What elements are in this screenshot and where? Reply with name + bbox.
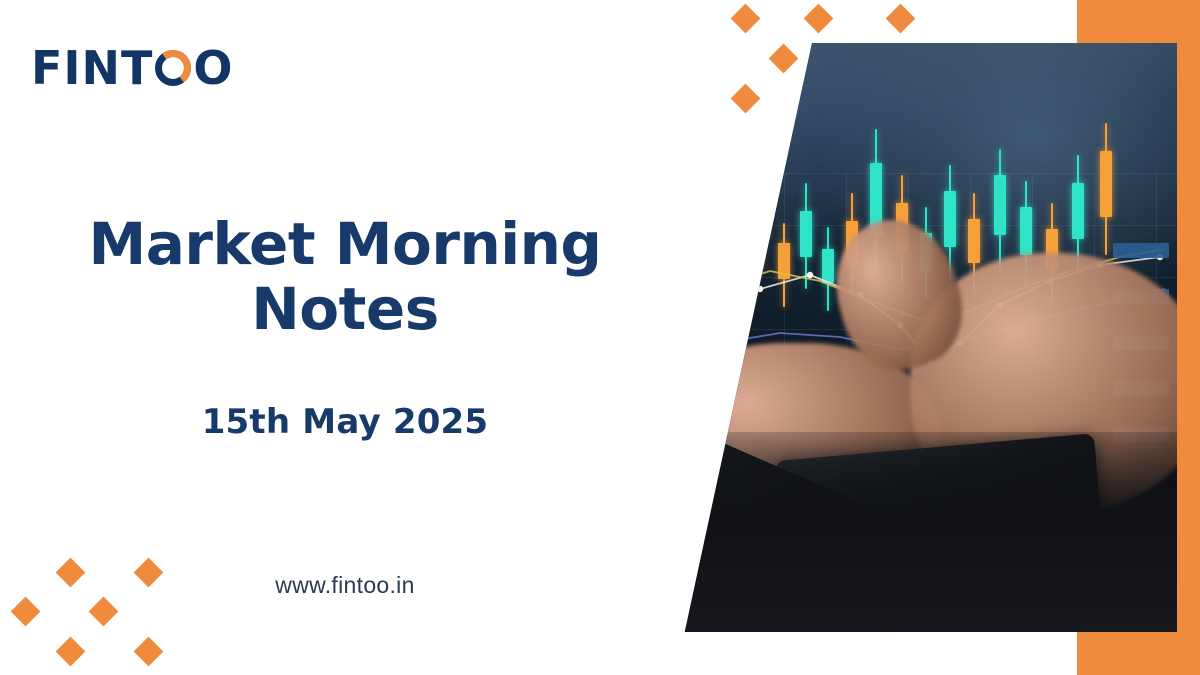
page-title-line-1: Market Morning xyxy=(0,212,690,277)
page-title-line-2: Notes xyxy=(0,277,690,342)
diamond-bottom-left-4 xyxy=(56,637,86,667)
candle-body-5 xyxy=(778,243,790,279)
candle-body-14 xyxy=(994,175,1006,235)
candle-body-6 xyxy=(800,211,812,257)
candle-wick-4 xyxy=(761,161,763,271)
diamond-top-right-1 xyxy=(804,4,834,34)
logo-gauge-o-icon xyxy=(155,50,191,86)
logo-o-orange-arc xyxy=(153,48,194,89)
candle-body-4 xyxy=(756,185,768,237)
website-url[interactable]: www.fintoo.in xyxy=(0,572,690,599)
candle-body-13 xyxy=(968,219,980,263)
diamond-top-right-0 xyxy=(731,4,761,34)
candle-body-1 xyxy=(696,239,708,281)
logo-text-after: O xyxy=(193,45,233,91)
candle-body-3 xyxy=(736,229,748,269)
diamond-bottom-left-3 xyxy=(89,597,119,627)
diamond-top-right-4 xyxy=(731,84,761,114)
diamond-top-right-3 xyxy=(769,44,799,74)
candle-wick-2 xyxy=(721,169,723,287)
candle-body-18 xyxy=(1100,151,1112,217)
trend-point-1 xyxy=(712,308,718,314)
desk-surface xyxy=(660,432,1177,632)
page-title: Market Morning Notes xyxy=(0,212,690,342)
candle-body-7 xyxy=(822,249,834,283)
hero-photo xyxy=(660,43,1177,632)
candle-body-2 xyxy=(716,193,728,251)
slide-canvas: FINT O Market Morning Notes 15th May 202… xyxy=(0,0,1200,675)
candle-wick-3 xyxy=(741,203,743,299)
diamond-bottom-left-2 xyxy=(11,597,41,627)
logo-text-before: FINT xyxy=(31,45,153,91)
ladder-bar-0 xyxy=(1113,243,1169,258)
logo-wordmark: FINT O xyxy=(31,45,234,91)
candle-body-15 xyxy=(1020,207,1032,255)
candle-wick-1 xyxy=(701,219,703,315)
candle-body-17 xyxy=(1072,183,1084,239)
publication-date: 15th May 2025 xyxy=(0,402,690,442)
diamond-top-right-2 xyxy=(886,4,916,34)
candle-body-12 xyxy=(944,191,956,247)
fintoo-logo[interactable]: FINT O xyxy=(31,42,234,94)
diamond-bottom-left-5 xyxy=(134,637,164,667)
